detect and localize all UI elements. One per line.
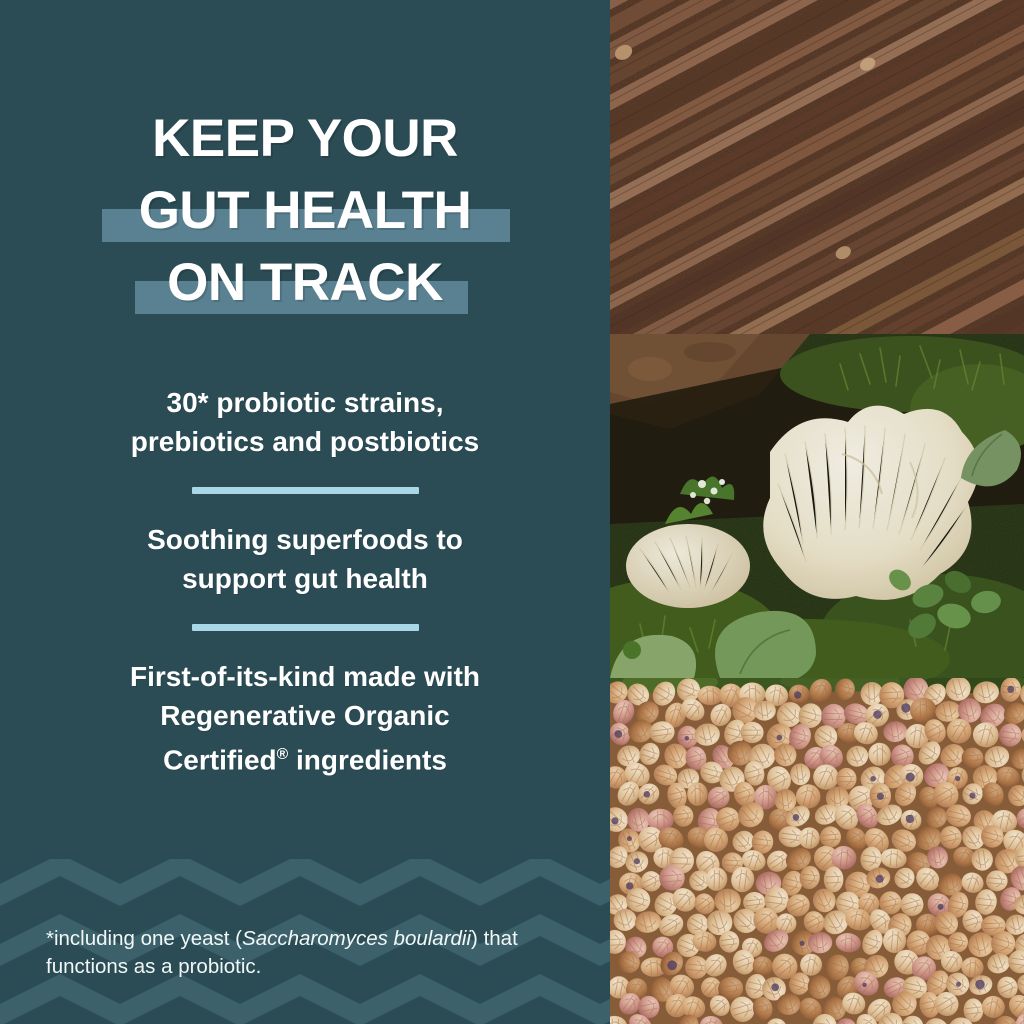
benefit-item-2: Soothing superfoods to support gut healt… [0,520,610,598]
benefit-item-1-line-2: prebiotics and postbiotics [131,426,479,457]
headline: KEEP YOUR GUT HEALTH ON TRACK [0,103,610,319]
benefit-item-3-line-2: Regenerative Organic [160,700,449,731]
headline-line-1: KEEP YOUR [0,103,610,175]
footnote-species-name: Saccharomyces boulardii [242,927,471,950]
image-lions-mane-mushroom [610,334,1024,678]
copy-panel: KEEP YOUR GUT HEALTH ON TRACK 30* probio… [0,0,610,1024]
divider-rule-2 [192,624,419,631]
benefit-list: 30* probiotic strains, prebiotics and po… [0,383,610,779]
registered-trademark-mark: ® [277,746,289,763]
benefit-item-1: 30* probiotic strains, prebiotics and po… [0,383,610,461]
benefit-item-2-line-1: Soothing superfoods to [147,524,463,555]
benefit-item-3-line-3-suffix: ingredients [288,744,447,775]
headline-line-3-text: ON TRACK [167,253,443,312]
benefit-item-3: First-of-its-kind made with Regenerative… [0,657,610,779]
product-benefits-poster: KEEP YOUR GUT HEALTH ON TRACK 30* probio… [0,0,1024,1024]
headline-line-1-text: KEEP YOUR [152,109,458,168]
headline-line-2: GUT HEALTH [0,175,610,247]
image-licorice-root-sticks [610,0,1024,334]
footnote: *including one yeast (Saccharomyces boul… [46,925,546,981]
headline-line-3: ON TRACK [0,247,610,319]
divider-rule-1 [192,487,419,494]
benefit-item-3-line-1: First-of-its-kind made with [130,661,480,692]
benefit-item-3-line-3: Certified [163,744,277,775]
footnote-prefix: *including one yeast ( [46,927,242,950]
benefit-item-1-line-1: 30* probiotic strains, [167,387,444,418]
ingredient-image-column [610,0,1024,1024]
headline-line-2-text: GUT HEALTH [139,181,472,240]
image-coriander-seeds [610,678,1024,1024]
benefit-item-2-line-2: support gut health [182,563,428,594]
